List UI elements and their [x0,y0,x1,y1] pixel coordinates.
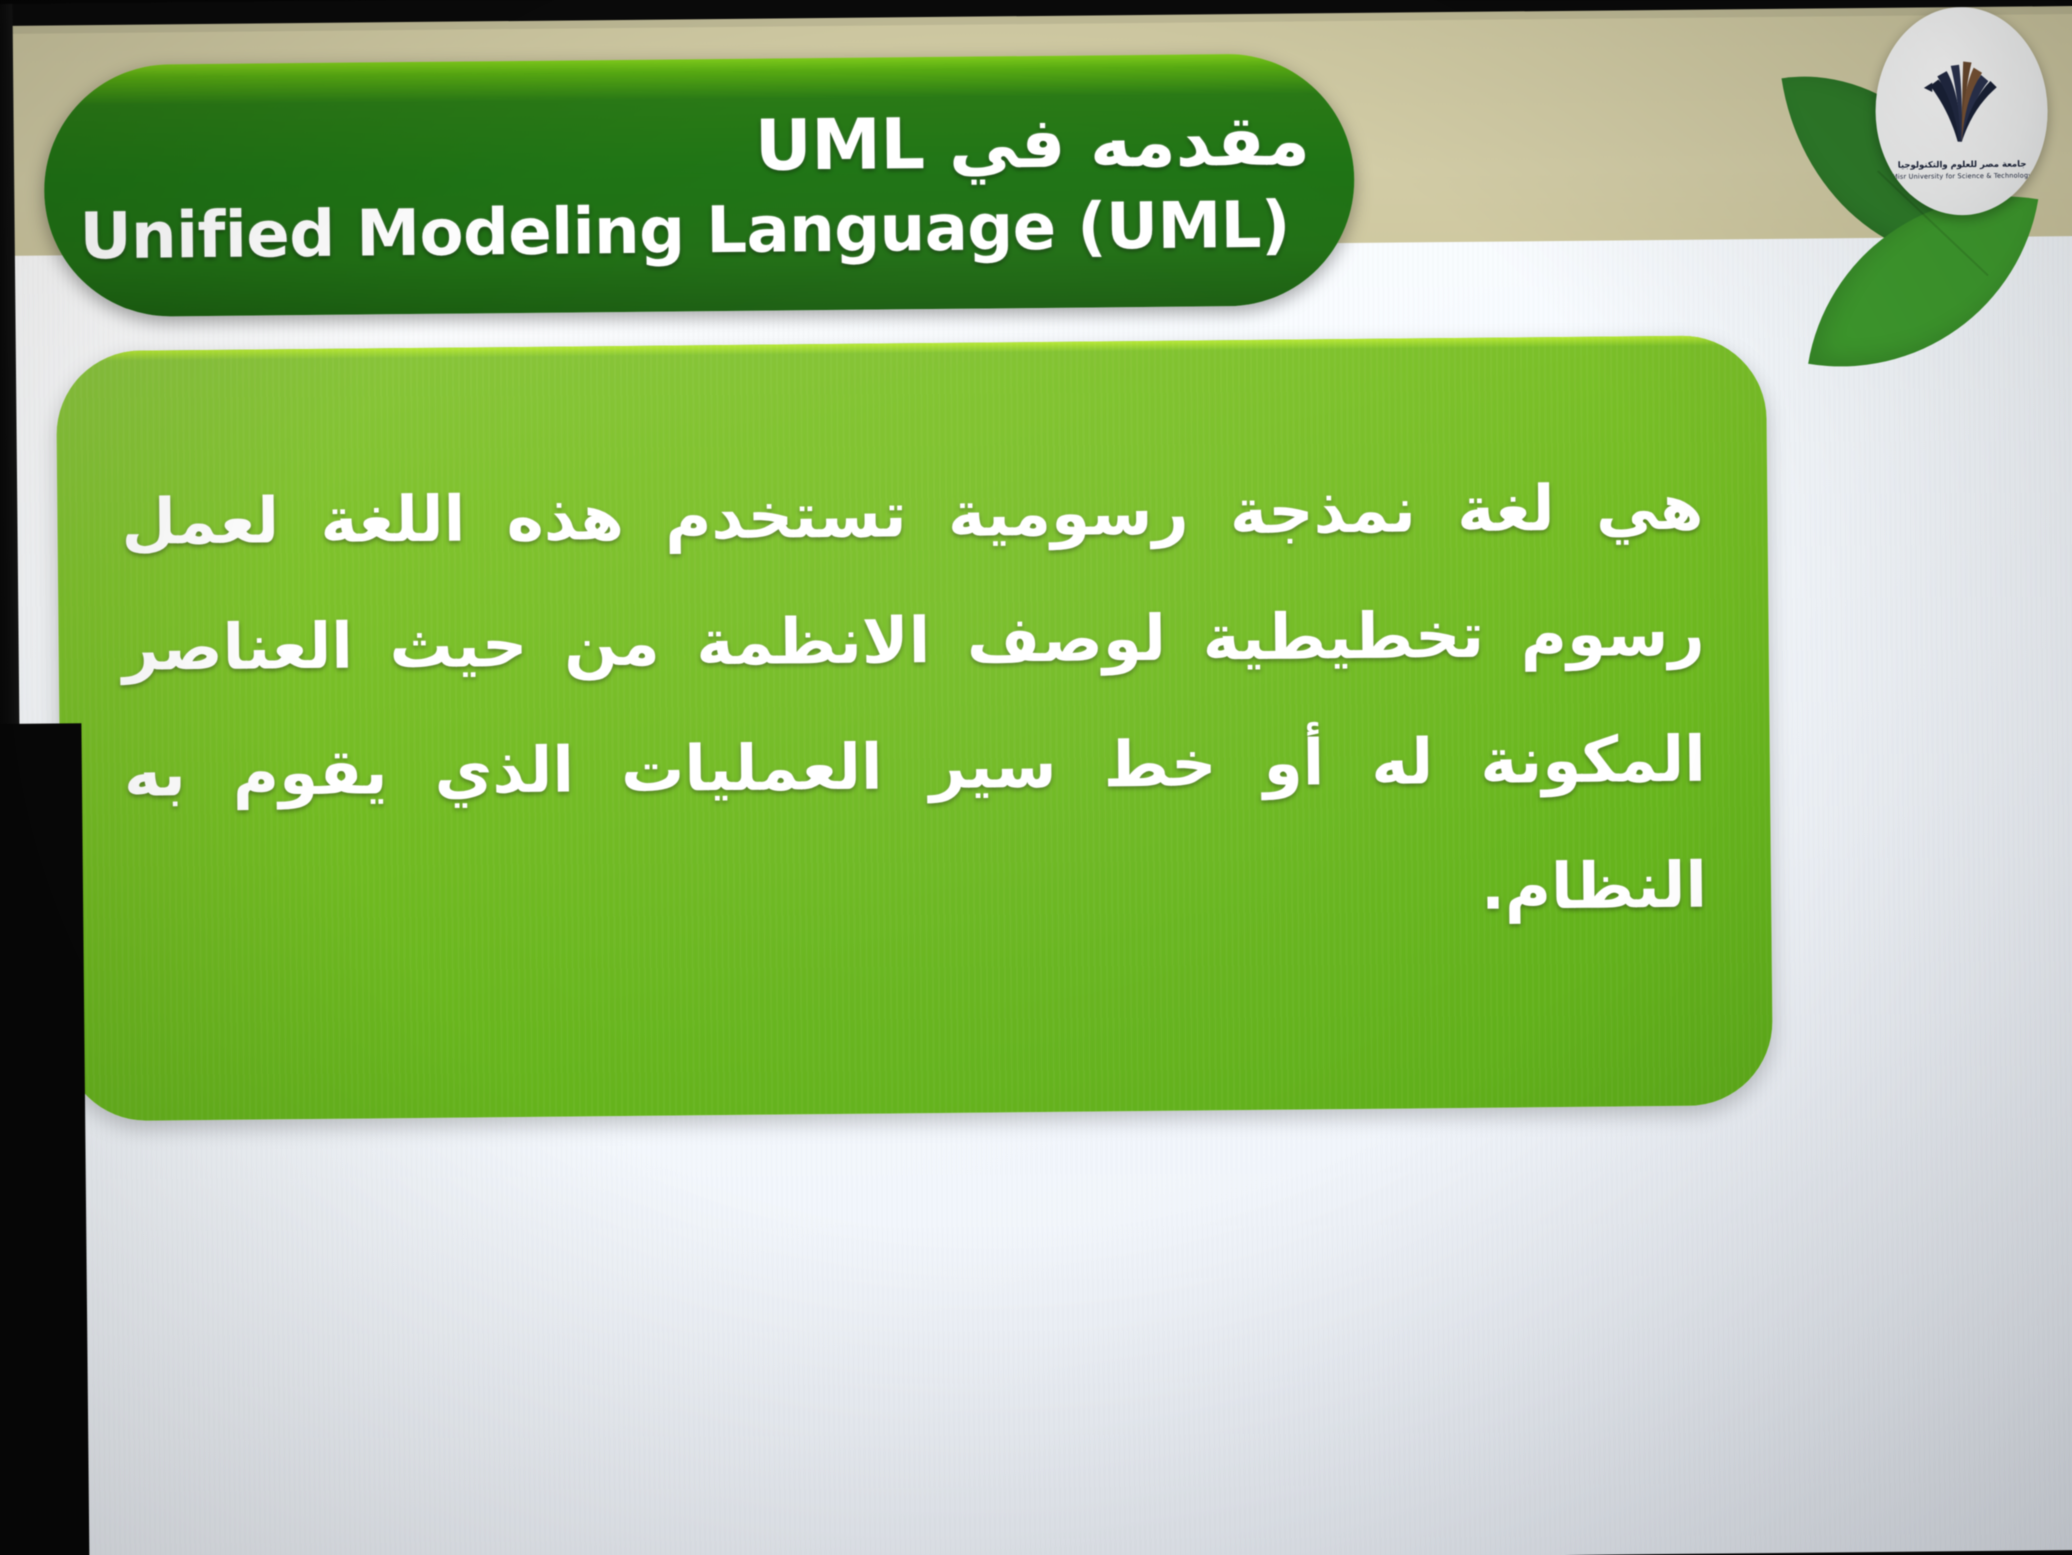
slide-title-banner: مقدمه في UML Unified Modeling Language (… [43,53,1355,318]
slide-content-box: هي لغة نمذجة رسومية تستخدم هذه اللغة لعم… [56,335,1773,1121]
university-logo: جامعة مصر للعلوم والتكنولوجيا Misr Unive… [1875,6,2049,216]
slide-body-text: هي لغة نمذجة رسومية تستخدم هذه اللغة لعم… [115,445,1714,964]
photographed-slide: جامعة مصر للعلوم والتكنولوجيا Misr Unive… [0,0,2072,1555]
title-line-english: Unified Modeling Language (UML) [79,190,1290,275]
monitor-bezel-corner [0,723,90,1555]
logo-english-text: Misr University for Science & Technology [1892,171,2032,180]
slide-canvas: جامعة مصر للعلوم والتكنولوجيا Misr Unive… [0,0,2072,1555]
open-book-fan-icon [1909,50,2014,155]
logo-arabic-text: جامعة مصر للعلوم والتكنولوجيا [1898,160,2027,171]
title-line-arabic: مقدمه في UML [755,101,1355,185]
